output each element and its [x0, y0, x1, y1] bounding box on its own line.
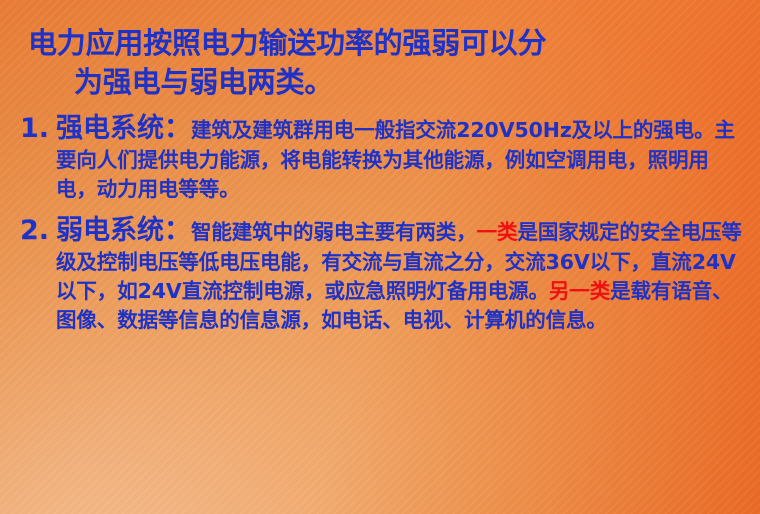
slide-title-line-2: 为强电与弱电两类。	[28, 63, 746, 102]
text-run-highlight-1: 一类	[477, 220, 518, 244]
slide-title-line-1: 电力应用按照电力输送功率的强弱可以分	[28, 24, 746, 63]
list-marker-1: 1.	[18, 112, 56, 146]
list-item-1: 1. 强电系统：建筑及建筑群用电一般指交流220V50Hz及以上的强电。主要向人…	[14, 112, 746, 204]
slide-title: 电力应用按照电力输送功率的强弱可以分 为强电与弱电两类。	[14, 24, 746, 102]
list-marker-2: 2.	[18, 214, 56, 248]
list-item-1-heading: 强电系统：	[56, 113, 191, 144]
list-item-2-body: 弱电系统：智能建筑中的弱电主要有两类，一类是国家规定的安全电压等级及控制电压等低…	[56, 214, 746, 335]
list-item-1-body: 强电系统：建筑及建筑群用电一般指交流220V50Hz及以上的强电。主要向人们提供…	[56, 112, 746, 204]
text-run-normal-0: 智能建筑中的弱电主要有两类，	[191, 220, 477, 244]
list-item-2: 2. 弱电系统：智能建筑中的弱电主要有两类，一类是国家规定的安全电压等级及控制电…	[14, 214, 746, 335]
slide-canvas: 电力应用按照电力输送功率的强弱可以分 为强电与弱电两类。 1. 强电系统：建筑及…	[0, 0, 760, 514]
slide-content: 电力应用按照电力输送功率的强弱可以分 为强电与弱电两类。 1. 强电系统：建筑及…	[0, 0, 760, 514]
text-run-highlight-3: 另一类	[549, 279, 610, 303]
list-item-2-heading: 弱电系统：	[56, 215, 191, 246]
